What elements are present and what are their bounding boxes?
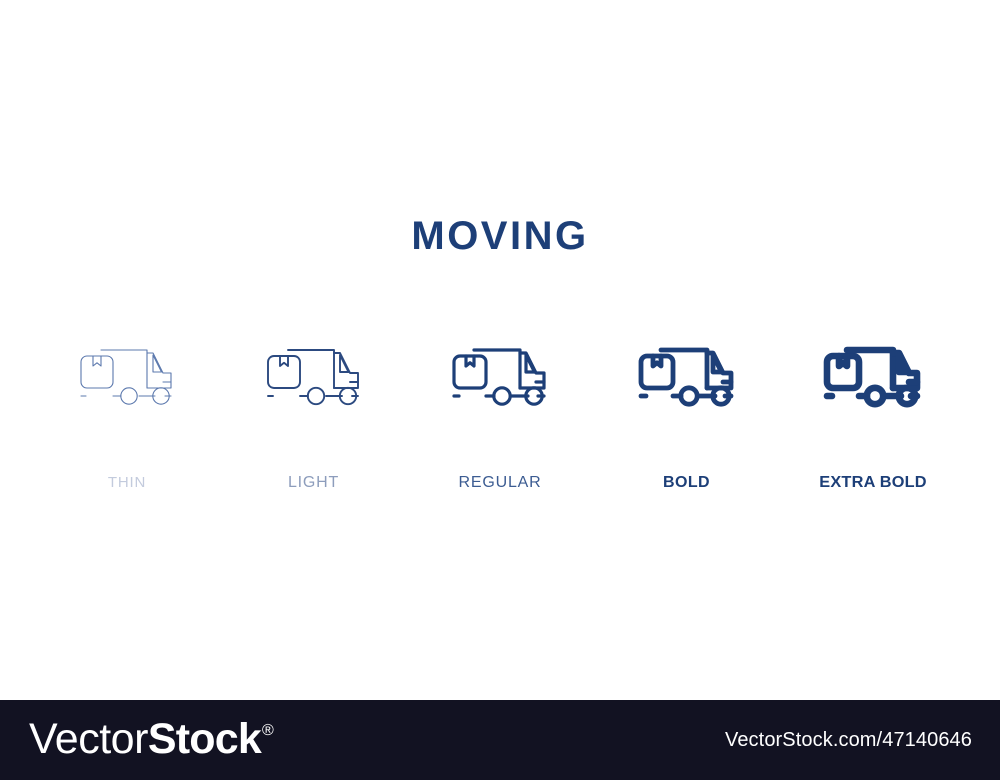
moving-truck-icon-light — [262, 340, 366, 420]
icon-cell-light[interactable] — [221, 330, 407, 430]
icon-label-extra-bold: EXTRA BOLD — [778, 470, 968, 496]
icon-label-light: LIGHT — [221, 470, 407, 496]
icon-cell-thin[interactable] — [34, 330, 220, 430]
icon-cell-regular[interactable] — [407, 330, 593, 430]
icon-label-regular: REGULAR — [407, 470, 593, 496]
registered-trademark-icon: ® — [262, 722, 274, 740]
moving-truck-icon-extra-bold — [821, 340, 925, 420]
logo-text-stock: Stock — [148, 715, 261, 764]
logo-text-vector: Vector — [29, 715, 148, 764]
artboard: MOVING — [0, 0, 1000, 700]
vectorstock-logo[interactable]: VectorStock® — [29, 715, 273, 767]
moving-truck-icon-regular — [448, 340, 552, 420]
watermark-url: VectorStock.com/47140646 — [725, 700, 972, 780]
icon-variant-row — [34, 330, 966, 430]
icon-label-row: THIN LIGHT REGULAR BOLD EXTRA BOLD — [34, 470, 966, 496]
icon-cell-extra-bold[interactable] — [780, 330, 966, 430]
icon-cell-bold[interactable] — [594, 330, 780, 430]
moving-truck-icon-bold — [635, 340, 739, 420]
moving-truck-icon-thin — [75, 340, 179, 420]
icon-label-bold: BOLD — [594, 470, 780, 496]
page-title: MOVING — [0, 212, 1000, 260]
icon-label-thin: THIN — [34, 470, 220, 496]
watermark-footer: VectorStock® VectorStock.com/47140646 — [0, 700, 1000, 780]
